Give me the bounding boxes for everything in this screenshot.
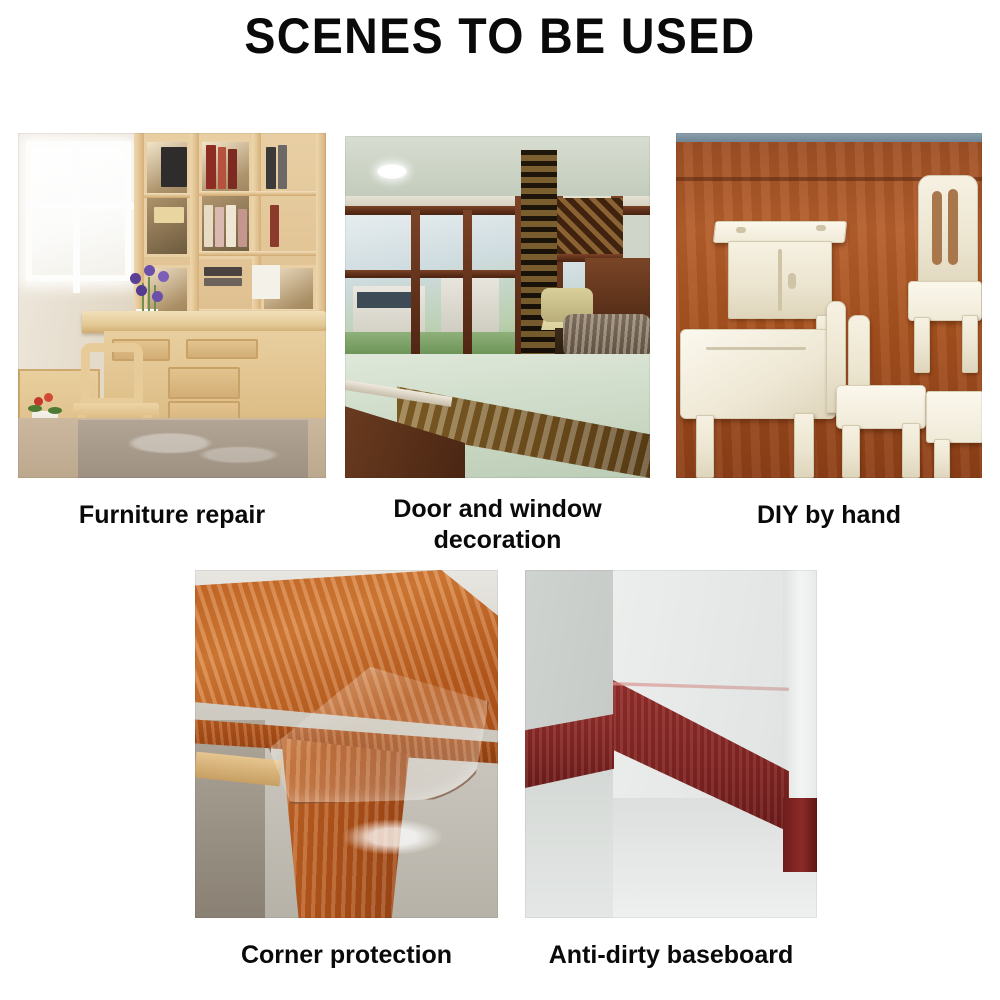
desk-top: [82, 311, 326, 333]
curtain: [521, 150, 557, 380]
mini-chair-leg: [842, 425, 860, 478]
scene-caption-diy-by-hand: DIY by hand: [676, 500, 982, 531]
gloss-highlight: [345, 820, 441, 854]
mini-cabinet-top: [713, 221, 847, 243]
scene-caption-furniture-repair: Furniture repair: [18, 500, 326, 531]
window: [26, 141, 131, 281]
carved-transom: [551, 198, 623, 254]
page-title: SCENES TO BE USED: [35, 8, 965, 64]
mini-chair-leg: [902, 423, 920, 478]
striped-pillow: [563, 314, 650, 358]
scene-image-door-window-decoration: [345, 136, 650, 478]
mini-chair-leg: [914, 317, 930, 373]
mini-table-leg: [794, 413, 814, 478]
scene-image-anti-dirty-baseboard: [525, 570, 817, 918]
baseboard-end-cap: [783, 798, 817, 872]
scene-caption-anti-dirty-baseboard: Anti-dirty baseboard: [525, 940, 817, 971]
ceiling-light: [377, 164, 407, 179]
scene-image-furniture-repair: [18, 133, 326, 478]
scene-caption-corner-protection: Corner protection: [195, 940, 498, 971]
mini-chair-leg: [962, 315, 978, 373]
background-strip: [676, 133, 982, 142]
side-shadow: [195, 720, 265, 918]
scene-caption-door-window-decoration: Door and window decoration: [345, 494, 650, 556]
scene-image-corner-protection: [195, 570, 498, 918]
mini-chair-partial: [926, 391, 982, 443]
rug: [78, 420, 308, 478]
mini-table-leg: [696, 415, 714, 478]
scene-image-diy-by-hand: [676, 133, 982, 478]
mini-table-top: [680, 329, 836, 419]
